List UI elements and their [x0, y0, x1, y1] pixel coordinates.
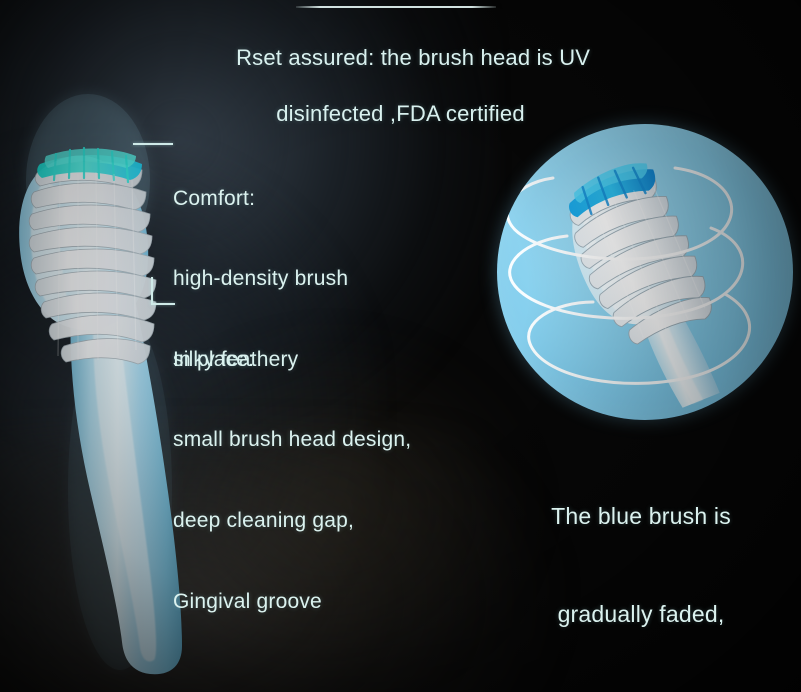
headline: Rset assured: the brush head is UV disin…: [0, 16, 801, 185]
replacement-blurb-line-1: The blue brush is: [488, 500, 794, 533]
header-divider: [296, 6, 496, 8]
product-image-canvas: Rset assured: the brush head is UV disin…: [0, 0, 801, 692]
callout-comfort-line-2: high-density brush: [173, 266, 348, 293]
in-place-leader-line: [151, 277, 175, 307]
headline-line-2: disinfected ,FDA certified: [0, 100, 801, 128]
replacement-blurb-line-2: gradually faded,: [488, 598, 794, 631]
callout-in-place-line-4: Gingival groove: [173, 589, 411, 616]
callout-in-place: In place: small brush head design, deep …: [173, 293, 411, 669]
callout-in-place-line-1: In place:: [173, 347, 411, 374]
callout-comfort-line-1: Comfort:: [173, 186, 348, 213]
callout-in-place-line-2: small brush head design,: [173, 427, 411, 454]
comfort-leader-line: [133, 143, 173, 145]
leader-segment-horizontal: [133, 143, 173, 145]
replacement-blurb: The blue brush is gradually faded, indic…: [488, 435, 794, 692]
callout-in-place-line-3: deep cleaning gap,: [173, 508, 411, 535]
leader-segment-vertical: [151, 277, 153, 305]
leader-segment-horizontal: [151, 303, 175, 305]
headline-line-1: Rset assured: the brush head is UV: [236, 45, 590, 70]
